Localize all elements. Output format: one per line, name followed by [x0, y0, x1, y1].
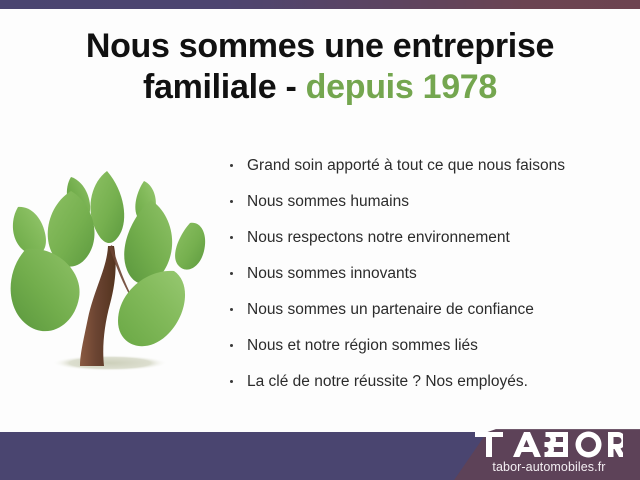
headline-prefix: familiale [143, 68, 276, 106]
tree-shadow [52, 355, 168, 371]
bullet-dot [230, 380, 233, 383]
list-item: Nous sommes un partenaire de confiance [228, 292, 628, 328]
list-item-label: La clé de notre réussite ? Nos employés. [247, 373, 528, 390]
headline-dash: - [285, 68, 296, 106]
list-item-label: Nous sommes un partenaire de confiance [247, 301, 534, 318]
bullet-dot [230, 308, 233, 311]
list-item-label: Nous sommes innovants [247, 265, 417, 282]
list-item: Nous respectons notre environnement [228, 220, 628, 256]
brand-logo[interactable]: tabor-automobiles.fr [468, 431, 630, 474]
tabor-wordmark-icon [475, 431, 623, 458]
headline-line-1: Nous sommes une entreprise [86, 27, 554, 65]
tree-leaf [175, 223, 205, 270]
list-item-label: Nous et notre région sommes liés [247, 337, 478, 354]
bullet-dot [230, 236, 233, 239]
bullet-dot [230, 272, 233, 275]
bullet-dot [230, 344, 233, 347]
tree-leaf [90, 171, 124, 243]
list-item-label: Grand soin apporté à tout ce que nous fa… [247, 157, 565, 174]
bullet-dot [230, 164, 233, 167]
list-item-label: Nous respectons notre environnement [247, 229, 510, 246]
tree-leaf [13, 207, 46, 255]
bullet-dot [230, 200, 233, 203]
tree-trunk [80, 246, 116, 366]
list-item: Nous sommes innovants [228, 256, 628, 292]
value-list: Grand soin apporté à tout ce que nous fa… [228, 148, 628, 400]
headline-accent: depuis 1978 [306, 68, 497, 106]
slide-canvas: Nous sommes une entreprise familiale - d… [0, 0, 640, 480]
list-item: La clé de notre réussite ? Nos employés. [228, 364, 628, 400]
list-item: Nous et notre région sommes liés [228, 328, 628, 364]
tree-leaf [118, 271, 185, 346]
list-item-label: Nous sommes humains [247, 193, 409, 210]
headline-line-2: familiale - depuis 1978 [0, 67, 640, 108]
list-item: Nous sommes humains [228, 184, 628, 220]
top-accent-bar [0, 0, 640, 9]
page-title: Nous sommes une entreprise familiale - d… [0, 26, 640, 108]
list-item: Grand soin apporté à tout ce que nous fa… [228, 148, 628, 184]
brand-url[interactable]: tabor-automobiles.fr [468, 460, 630, 474]
tree-illustration [8, 150, 218, 385]
